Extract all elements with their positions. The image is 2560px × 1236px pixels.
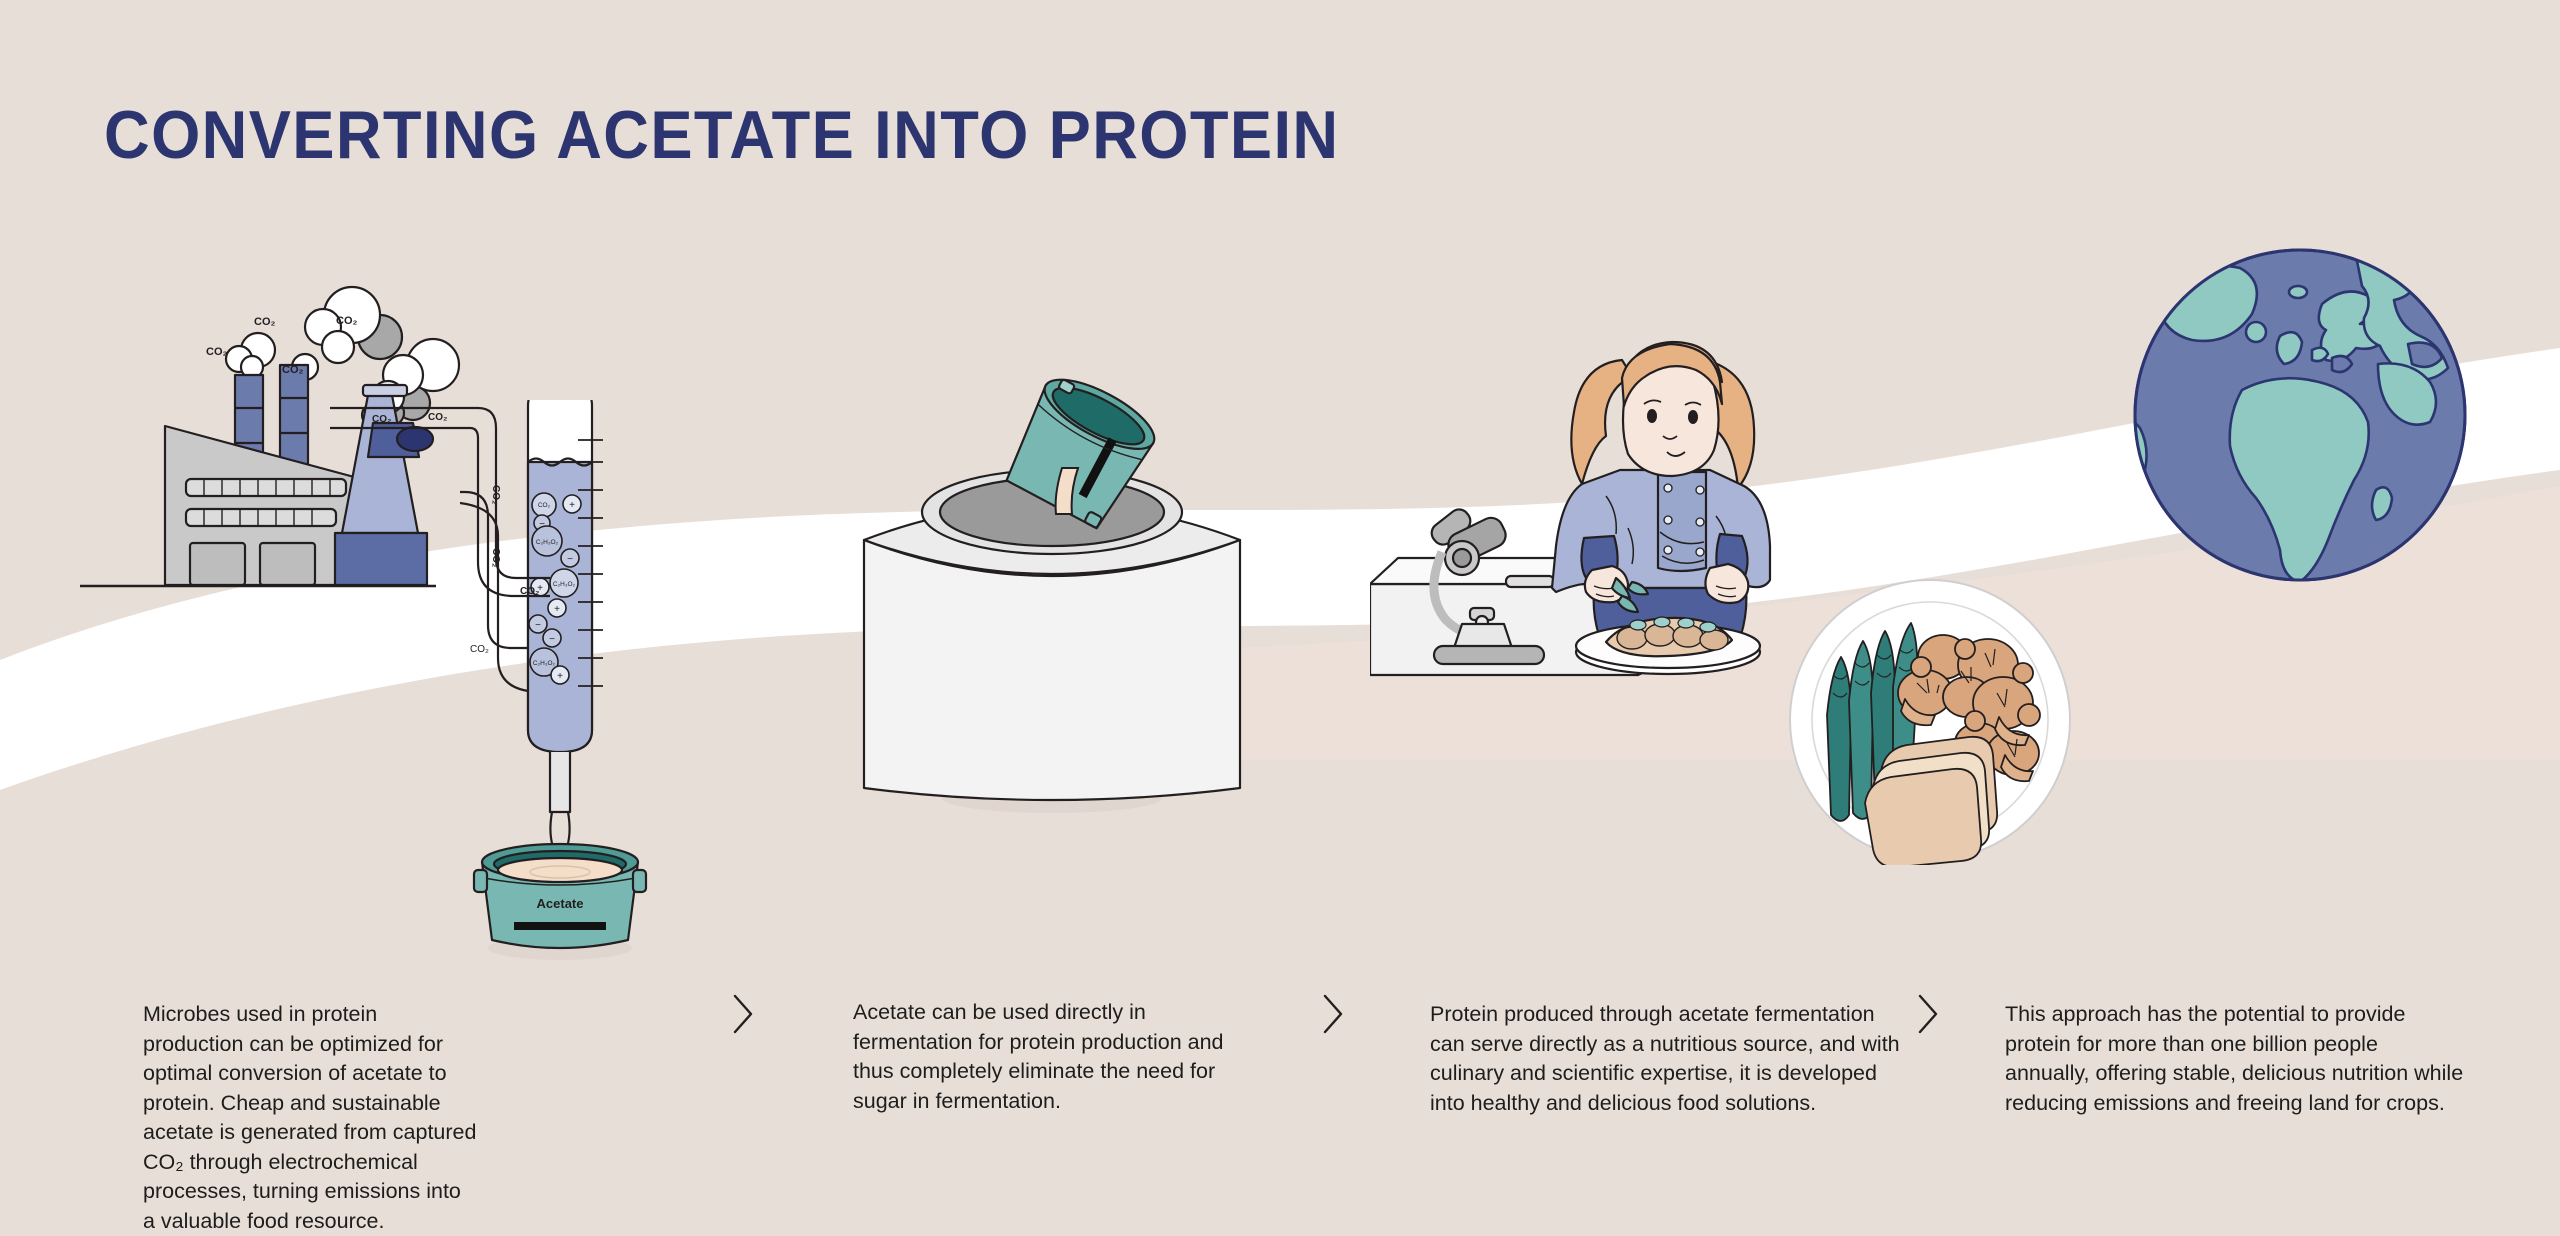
- infographic-canvas: CONVERTING ACETATE INTO PROTEIN: [0, 0, 2560, 1225]
- chevron-right-icon-1: [730, 992, 756, 1036]
- chevron-right-icon-2: [1320, 992, 1346, 1036]
- caption-row: Microbes used in protein production can …: [0, 0, 2560, 1225]
- chevron-right-icon-3: [1915, 992, 1941, 1036]
- caption-step-3: Protein produced through acetate ferment…: [1430, 1000, 1905, 1118]
- caption-step-2: Acetate can be used directly in fermenta…: [853, 998, 1253, 1116]
- caption-step-1: Microbes used in protein production can …: [143, 1000, 478, 1236]
- caption-step-4: This approach has the potential to provi…: [2005, 1000, 2465, 1118]
